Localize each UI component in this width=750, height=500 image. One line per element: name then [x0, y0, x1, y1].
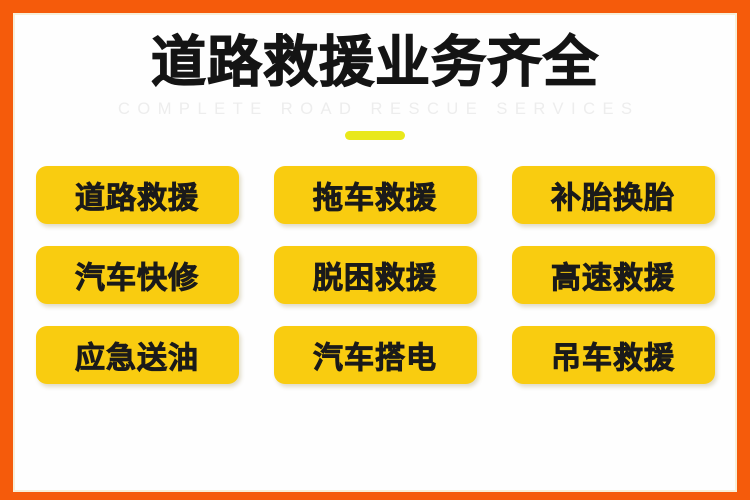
service-chip-tow-rescue[interactable]: 拖车救援: [274, 166, 477, 224]
service-chip-jump-start[interactable]: 汽车搭电: [274, 326, 477, 384]
service-grid: 道路救援 拖车救援 补胎换胎 汽车快修 脱困救援 高速救援 应急送油 汽车搭电: [36, 166, 715, 384]
service-chip-crane-rescue[interactable]: 吊车救援: [512, 326, 715, 384]
service-chip-label: 拖车救援: [313, 173, 437, 217]
accent-bar: [345, 131, 405, 140]
page-title: 道路救援业务齐全: [151, 33, 599, 91]
poster-header: 道路救援业务齐全 COMPLETE ROAD RESCUE SERVICES: [15, 15, 735, 140]
poster-root: 道路救援业务齐全 COMPLETE ROAD RESCUE SERVICES 道…: [0, 0, 750, 500]
service-chip-label: 应急送油: [75, 333, 199, 377]
service-chip-road-rescue[interactable]: 道路救援: [36, 166, 239, 224]
service-chip-label: 脱困救援: [313, 253, 437, 297]
page-subtitle: COMPLETE ROAD RESCUE SERVICES: [110, 100, 639, 119]
service-chip-label: 高速救援: [551, 253, 675, 297]
service-chip-tire-repair-replace[interactable]: 补胎换胎: [512, 166, 715, 224]
service-chip-label: 吊车救援: [551, 333, 675, 377]
service-chip-label: 汽车搭电: [313, 333, 437, 377]
service-chip-emergency-fuel[interactable]: 应急送油: [36, 326, 239, 384]
service-chip-extrication-rescue[interactable]: 脱困救援: [274, 246, 477, 304]
service-chip-highway-rescue[interactable]: 高速救援: [512, 246, 715, 304]
service-chip-label: 补胎换胎: [551, 173, 675, 217]
service-chip-quick-car-repair[interactable]: 汽车快修: [36, 246, 239, 304]
service-chip-label: 道路救援: [75, 173, 199, 217]
service-chip-label: 汽车快修: [75, 253, 199, 297]
poster-canvas: 道路救援业务齐全 COMPLETE ROAD RESCUE SERVICES 道…: [15, 15, 735, 490]
